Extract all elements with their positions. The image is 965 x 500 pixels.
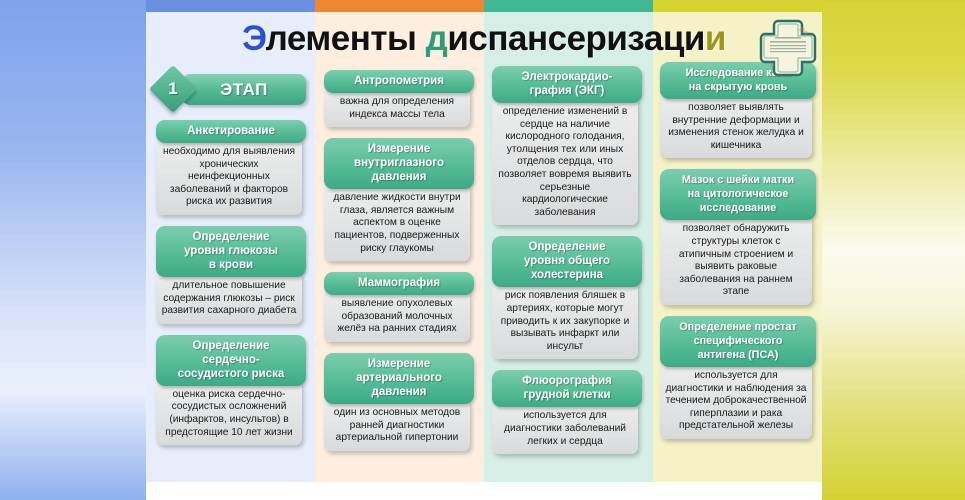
card-title-line-1: Определение bbox=[193, 340, 270, 352]
card-title-line-2: на скрытую кровь bbox=[689, 81, 787, 93]
card-title-line-2: грудной клетки bbox=[523, 389, 610, 401]
card-cardiovascular-risk[interactable]: Определение сердечно- сосудистого риска … bbox=[156, 335, 306, 445]
card-title-line-3: давления bbox=[372, 386, 427, 398]
card-intraocular-pressure[interactable]: Измерение внутриглазного давления давлен… bbox=[324, 138, 474, 261]
stage-banner: ЭТАП 1 bbox=[156, 70, 306, 108]
card-title: Определение простат специфического антиг… bbox=[660, 316, 816, 367]
slide-canvas: Элементы диспансеризации ЭТАП 1 Анкетиро… bbox=[0, 0, 965, 500]
card-anketirovanie[interactable]: Анкетирование необходимо для выявления х… bbox=[156, 120, 306, 215]
card-title-line-3: холестерина bbox=[531, 269, 603, 281]
card-title-line-1: Определение bbox=[529, 241, 606, 253]
card-title-line-2: артериального bbox=[356, 372, 442, 384]
column-3: Электрокардио- графия (ЭКГ) определение … bbox=[492, 66, 642, 465]
card-body: используется для диагностики заболеваний… bbox=[492, 402, 638, 454]
card-arterial-pressure[interactable]: Измерение артериального давления один из… bbox=[324, 353, 474, 451]
card-body: необходимо для выявления хронических неи… bbox=[156, 138, 302, 215]
card-anthropometry[interactable]: Антропометрия важна для определения инде… bbox=[324, 70, 474, 127]
card-title: Анкетирование bbox=[156, 120, 306, 143]
card-title-line-2: внутриглазного bbox=[354, 157, 444, 169]
card-title: Определение сердечно- сосудистого риска bbox=[156, 335, 306, 386]
card-title: Электрокардио- графия (ЭКГ) bbox=[492, 66, 642, 103]
stage-label: ЭТАП bbox=[182, 74, 306, 105]
card-body: длительное повышение содержания глюкозы … bbox=[156, 272, 302, 324]
card-title-line-3: антигена (ПСА) bbox=[698, 349, 779, 361]
card-glucose-level[interactable]: Определение уровня глюкозы в крови длите… bbox=[156, 226, 306, 324]
card-title-line-3: в крови bbox=[209, 259, 253, 271]
card-cervical-smear[interactable]: Мазок с шейки матки на цитологическое ис… bbox=[660, 169, 816, 305]
card-title-line-1: Измерение bbox=[368, 358, 430, 370]
card-ecg[interactable]: Электрокардио- графия (ЭКГ) определение … bbox=[492, 66, 642, 225]
card-body: используется для диагностики и наблюдени… bbox=[660, 362, 812, 439]
card-mammography[interactable]: Маммография выявление опухолевых образов… bbox=[324, 272, 474, 342]
card-title: Измерение внутриглазного давления bbox=[324, 138, 474, 189]
card-title: Определение уровня общего холестерина bbox=[492, 236, 642, 287]
card-title-line-3: давления bbox=[372, 171, 427, 183]
card-title-line-2: специфического bbox=[694, 335, 783, 347]
card-fluorography[interactable]: Флюорография грудной клетки используется… bbox=[492, 370, 642, 454]
card-title-line-2: на цитологическое bbox=[688, 188, 789, 200]
column-2: Антропометрия важна для определения инде… bbox=[324, 70, 474, 462]
card-title-line-1: Флюорография bbox=[522, 375, 612, 387]
card-title: Мазок с шейки матки на цитологическое ис… bbox=[660, 169, 816, 220]
column-cap-2 bbox=[315, 0, 484, 12]
card-total-cholesterol[interactable]: Определение уровня общего холестерина ри… bbox=[492, 236, 642, 359]
card-title-line-1: Определение простат bbox=[679, 321, 796, 333]
card-title-line-3: сосудистого риска bbox=[178, 368, 285, 380]
card-title: Флюорография грудной клетки bbox=[492, 370, 642, 407]
card-title-line-1: Электрокардио- bbox=[522, 71, 613, 83]
medical-cross-icon bbox=[757, 17, 819, 79]
card-title-line-2: сердечно- bbox=[202, 354, 259, 366]
slide-background-right bbox=[822, 0, 965, 500]
column-cap-1 bbox=[146, 0, 315, 12]
card-title: Антропометрия bbox=[324, 70, 474, 93]
card-body: важна для определения индекса массы тела bbox=[324, 88, 470, 127]
card-body: риск появления бляшек в артериях, которы… bbox=[492, 282, 638, 359]
card-title: Определение уровня глюкозы в крови bbox=[156, 226, 306, 277]
card-title-line-1: Определение bbox=[193, 231, 270, 243]
card-title: Маммография bbox=[324, 272, 474, 295]
stage-number: 1 bbox=[156, 72, 190, 106]
card-title: Измерение артериального давления bbox=[324, 353, 474, 404]
board-footer-strip bbox=[146, 482, 822, 500]
column-cap-3 bbox=[484, 0, 653, 12]
column-4: Исследование кала на скрытую кровь позво… bbox=[660, 62, 816, 450]
card-body: оценка риска сердечно-сосудистых осложне… bbox=[156, 381, 302, 445]
card-title-line-2: уровня глюкозы bbox=[184, 245, 278, 257]
column-1: ЭТАП 1 Анкетирование необходимо для выяв… bbox=[156, 70, 306, 456]
card-body: позволяет выявлять внутренние деформации… bbox=[660, 94, 812, 158]
card-title-line-2: графия (ЭКГ) bbox=[530, 85, 605, 97]
card-body: один из основных методов ранней диагност… bbox=[324, 399, 470, 451]
card-title-line-3: исследование bbox=[700, 202, 776, 214]
card-psa[interactable]: Определение простат специфического антиг… bbox=[660, 316, 816, 439]
card-body: определение изменений в сердце на наличи… bbox=[492, 98, 638, 225]
card-title-line-2: уровня общего bbox=[524, 255, 610, 267]
card-body: выявление опухолевых образований молочны… bbox=[324, 290, 470, 342]
column-cap-4 bbox=[653, 0, 822, 12]
card-body: давление жидкости внутри глаза, является… bbox=[324, 184, 470, 261]
card-title-line-1: Мазок с шейки матки bbox=[682, 174, 794, 186]
card-body: позволяет обнаружить структуры клеток с … bbox=[660, 215, 812, 305]
slide-background-left bbox=[0, 0, 146, 500]
card-title-line-1: Измерение bbox=[368, 143, 430, 155]
